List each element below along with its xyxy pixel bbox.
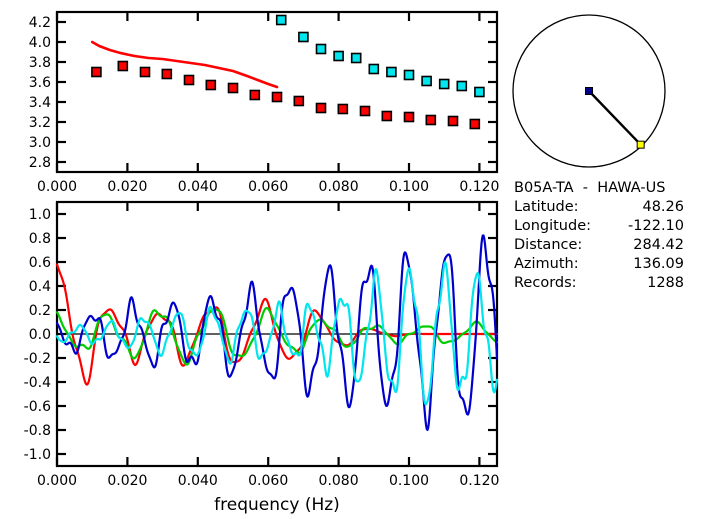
info-row: Distance:284.42 [514,237,684,253]
data-point [118,62,127,71]
data-point [449,117,458,126]
data-point [382,112,391,121]
info-group: B05A-TA - HAWA-USLatitude:48.26Longitude… [514,180,684,291]
axis-tick-label: 0.2 [29,303,51,319]
data-point [334,52,343,61]
data-point [250,91,259,100]
data-point [185,76,194,85]
data-point [141,68,150,77]
dispersion-plot-area: 2.83.03.23.43.63.84.04.20.0000.0200.0400… [29,12,500,195]
axis-tick-label: 0.100 [389,473,429,489]
data-point [426,116,435,125]
info-value: -122.10 [628,218,684,234]
axis-tick-label: 0.020 [107,473,147,489]
data-point [470,120,479,129]
axis-tick-label: 0.8 [29,231,51,247]
data-point [457,82,466,91]
data-point [352,54,361,63]
axis-tick-label: 4.0 [29,35,51,51]
info-value: 284.42 [633,237,684,253]
axis-tick-label: -1.0 [24,447,51,463]
info-row: Records:1288 [514,275,684,291]
dispersion-chart-panel: 2.83.03.23.43.63.84.04.20.0000.0200.0400… [0,0,510,200]
axis-tick-label: 3.0 [29,135,51,151]
data-point [440,80,449,89]
axis-tick-label: -0.2 [24,351,51,367]
great-circle-path [589,91,641,145]
series-first-higher-mode-measurements [277,16,484,97]
station-info-svg: B05A-TA - HAWA-USLatitude:48.26Longitude… [505,178,708,298]
axis-tick-label: 0.4 [29,279,51,295]
info-label: Records: [514,275,577,291]
axis-tick-label: 3.2 [29,115,51,131]
data-point [206,81,215,90]
dispersion-chart-svg: 2.83.03.23.43.63.84.04.20.0000.0200.0400… [0,0,510,200]
info-label: Longitude: [514,218,591,234]
azimuth-map-panel [505,0,708,180]
data-point [369,65,378,74]
data-point [338,105,347,114]
data-point [229,84,238,93]
data-point [405,113,414,122]
axis-tick-label: 0.080 [319,473,359,489]
axis-tick-label: 1.0 [29,207,51,223]
info-value: 136.09 [633,256,684,272]
axis-tick-label: 0.0 [29,327,51,343]
data-point [317,104,326,113]
station-info-panel: B05A-TA - HAWA-USLatitude:48.26Longitude… [505,178,708,298]
series-fundamental-mode-measurements [92,62,479,129]
axis-tick-label: 0.040 [178,473,218,489]
station-marker [637,141,644,148]
info-label: Distance: [514,237,582,253]
info-label: Azimuth: [514,256,579,272]
info-row: Longitude:-122.10 [514,218,684,234]
data-point [294,97,303,106]
data-point [475,88,484,97]
info-label: Latitude: [514,199,579,215]
info-value: 48.26 [642,199,684,215]
axis-tick-label: 0.060 [248,473,288,489]
axis-tick-label: 2.8 [29,155,51,171]
axis-tick-label: 0.120 [459,473,499,489]
data-point [387,68,396,77]
axis-tick-label: -0.4 [24,375,51,391]
event-marker [586,88,593,95]
data-point [405,71,414,80]
station-pair-title: B05A-TA - HAWA-US [514,180,665,196]
data-point [317,45,326,54]
spectra-chart-svg: -1.0-0.8-0.6-0.4-0.20.00.20.40.60.81.00.… [0,190,510,519]
info-value: 1288 [647,275,684,291]
axis-tick-label: 3.4 [29,95,51,111]
data-point [299,33,308,42]
data-point [273,93,282,102]
data-point [92,68,101,77]
info-row: Latitude:48.26 [514,199,684,215]
data-point [361,107,370,116]
data-point [277,16,286,25]
map-group [513,15,665,167]
series-narrow-band-filtered-trace [57,235,497,430]
axis-tick-label: -0.8 [24,423,51,439]
axis-tick-label: 0.000 [37,473,77,489]
x-axis-title: frequency (Hz) [214,495,340,515]
azimuth-map-svg [505,0,708,180]
axis-tick-label: 0.6 [29,255,51,271]
data-point [422,77,431,86]
axis-tick-label: 3.6 [29,75,51,91]
axis-tick-label: -0.6 [24,399,51,415]
spectra-chart-panel: -1.0-0.8-0.6-0.4-0.20.00.20.40.60.81.00.… [0,190,510,519]
info-row: Azimuth:136.09 [514,256,684,272]
axis-tick-label: 4.2 [29,15,51,31]
axis-tick-label: 3.8 [29,55,51,71]
spectra-plot-area: -1.0-0.8-0.6-0.4-0.20.00.20.40.60.81.00.… [24,202,500,515]
data-point [162,70,171,79]
